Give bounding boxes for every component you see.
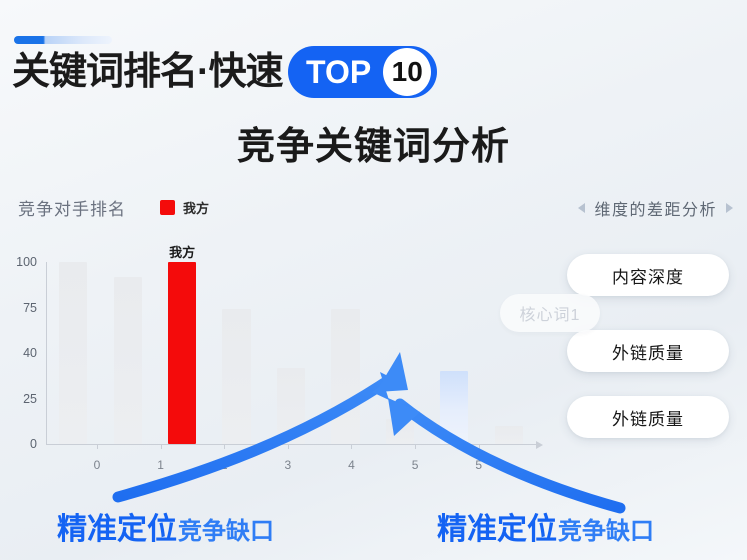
dimension-panel-header: 维度的差距分析 (578, 196, 733, 220)
y-tick: 0 (30, 437, 37, 451)
x-tick-mark (351, 444, 352, 449)
x-tick-mark (288, 444, 289, 449)
chart-title: 竞争对手排名 (18, 195, 126, 220)
bar-competitor (222, 309, 250, 444)
legend-swatch-icon (160, 200, 175, 215)
chart-header: 竞争对手排名 我方 (18, 195, 209, 220)
x-tick: 3 (284, 458, 291, 472)
triangle-left-icon[interactable] (578, 203, 585, 213)
x-tick-labels: 0123455 (46, 444, 536, 474)
x-tick-mark (97, 444, 98, 449)
caption-left: 精准定位 竞争缺口 (57, 504, 274, 548)
dimension-pill-1[interactable]: 内容深度 (567, 254, 729, 296)
dimension-pill-3[interactable]: 外链质量 (567, 396, 729, 438)
y-tick: 75 (23, 301, 37, 315)
caption-right-light: 竞争缺口 (558, 511, 654, 546)
x-tick: 5 (412, 458, 419, 472)
top-badge: TOP 10 (288, 46, 437, 98)
bar-competitor (277, 368, 305, 444)
x-tick: 5 (475, 458, 482, 472)
bar-competitor (114, 277, 142, 444)
dimension-pill-2[interactable]: 外链质量 (567, 330, 729, 372)
bar-competitor (331, 309, 359, 444)
caption-left-strong: 精准定位 (57, 504, 177, 548)
x-tick-mark (415, 444, 416, 449)
top-badge-label: TOP (306, 56, 371, 88)
bar-competitor (59, 262, 87, 444)
dimension-panel-title: 维度的差距分析 (594, 196, 717, 220)
y-tick: 100 (16, 255, 37, 269)
bar-chart: 0254075100 0123455 我方 (46, 262, 536, 444)
y-tick: 40 (23, 346, 37, 360)
chart-legend: 我方 (160, 198, 209, 217)
headline-text: 关键词排名·快速 (12, 46, 283, 98)
caption-left-light: 竞争缺口 (178, 511, 274, 546)
y-axis (46, 262, 47, 444)
y-tick: 25 (23, 392, 37, 406)
progress-bar (14, 36, 112, 44)
x-tick-mark (161, 444, 162, 449)
caption-right: 精准定位 竞争缺口 (437, 504, 654, 548)
poster-canvas: 关键词排名·快速 TOP 10 竞争关键词分析 竞争对手排名 我方 025407… (0, 0, 747, 560)
bar-annotation-label: 我方 (169, 242, 195, 261)
x-tick: 2 (221, 458, 228, 472)
bar-mine (168, 262, 196, 444)
caption-right-strong: 精准定位 (437, 504, 557, 548)
bar-competitor (495, 426, 523, 444)
legend-label: 我方 (183, 198, 209, 217)
x-tick-mark (224, 444, 225, 449)
ghost-keyword-pill: 核心词1 (500, 294, 600, 332)
bar-gap-highlight (440, 371, 468, 444)
x-tick-mark (479, 444, 480, 449)
top-badge-number: 10 (383, 48, 431, 96)
triangle-right-icon[interactable] (726, 203, 733, 213)
x-tick: 1 (157, 458, 164, 472)
page-title: 竞争关键词分析 (0, 115, 747, 170)
bar-competitor (386, 419, 414, 444)
headline: 关键词排名·快速 (12, 46, 283, 98)
x-tick: 0 (94, 458, 101, 472)
x-tick: 4 (348, 458, 355, 472)
